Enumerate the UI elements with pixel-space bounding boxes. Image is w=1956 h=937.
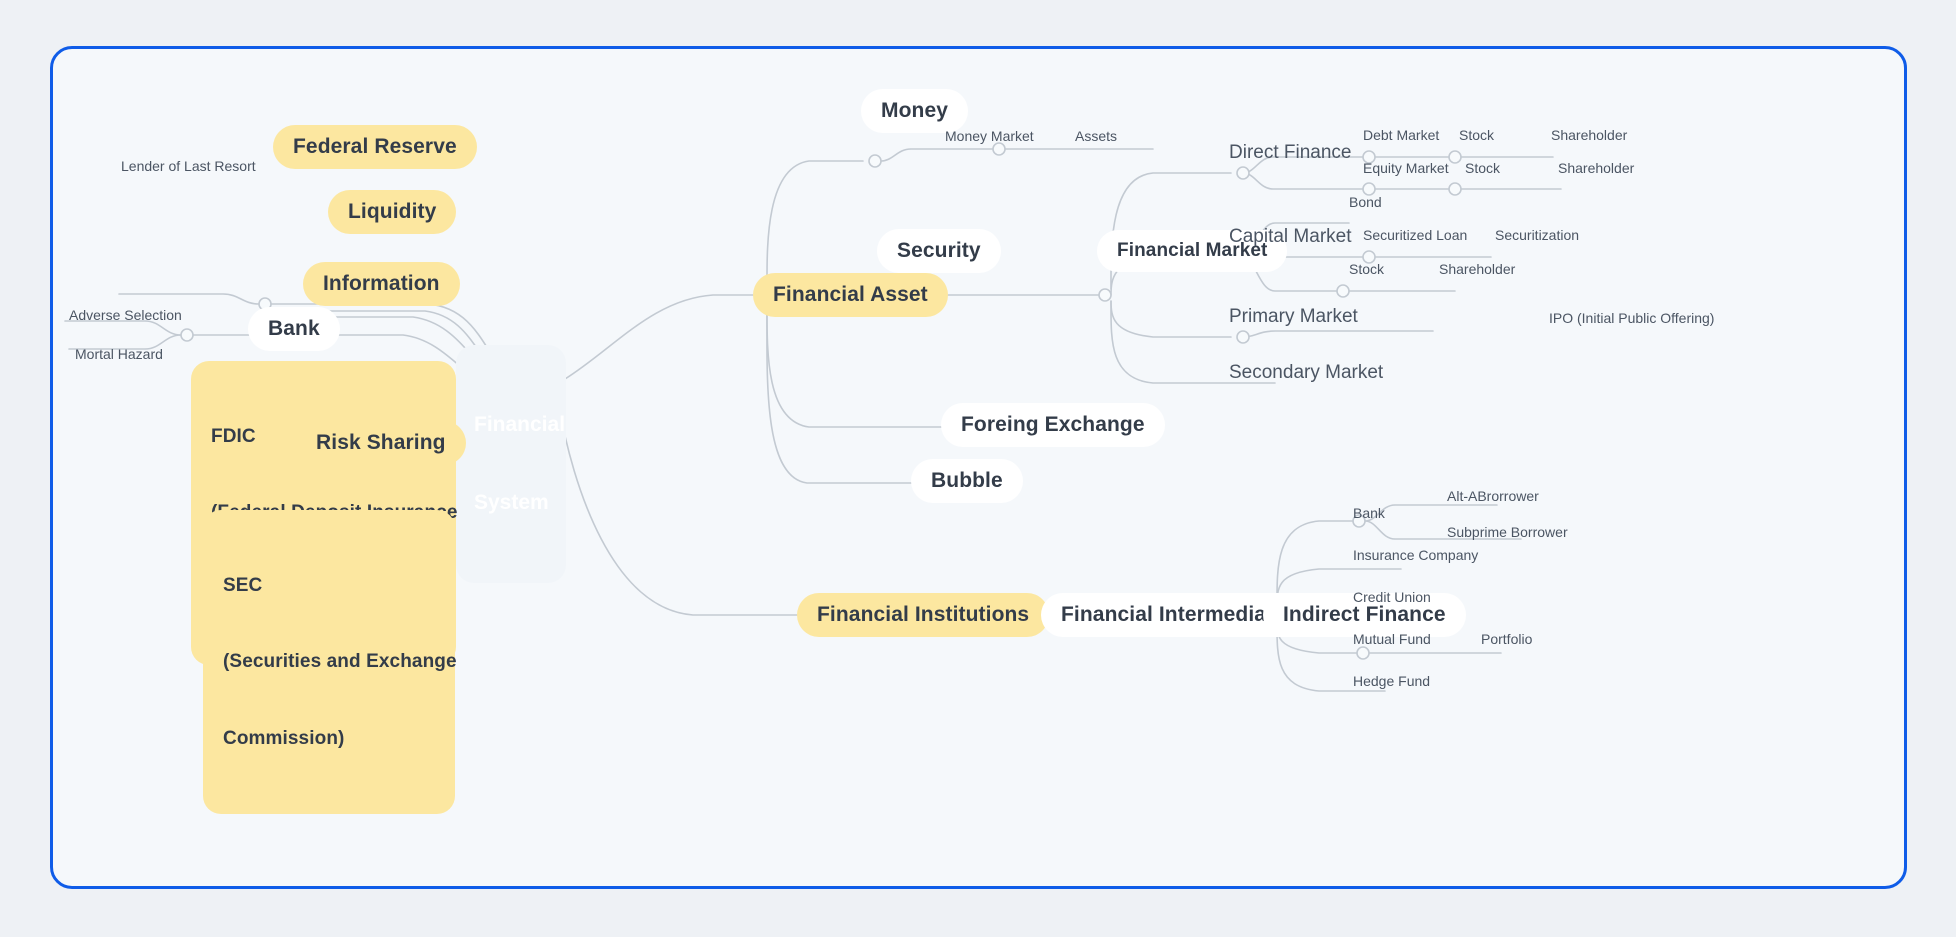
mindmap-page: Financial System Lender of Last Resort F… — [0, 0, 1956, 937]
node-adverse-selection[interactable]: Adverse Selection — [69, 304, 182, 326]
node-credit-union[interactable]: Credit Union — [1353, 587, 1431, 607]
node-information[interactable]: Information — [303, 262, 460, 306]
node-mortal-hazard[interactable]: Mortal Hazard — [75, 343, 163, 365]
node-insurance-company[interactable]: Insurance Company — [1353, 545, 1478, 565]
node-sec-line3: Commission) — [223, 726, 435, 751]
edge-fa-to-money — [767, 161, 863, 289]
node-direct-finance[interactable]: Direct Finance — [1229, 141, 1352, 165]
edge-fm-to-primary-market — [1111, 301, 1231, 337]
junction-dot-stock-2 — [1449, 183, 1461, 195]
junction-dot-direct-finance — [1237, 167, 1249, 179]
edge-pm-to-ipo — [1243, 331, 1433, 337]
node-primary-market[interactable]: Primary Market — [1229, 305, 1358, 329]
junction-dot-financial-market — [1099, 289, 1111, 301]
node-shareholder-1[interactable]: Shareholder — [1551, 125, 1627, 145]
node-stock-1[interactable]: Stock — [1459, 125, 1494, 145]
node-sec-line1: SEC — [223, 573, 435, 598]
junction-dot-stock-1 — [1449, 151, 1461, 163]
node-security[interactable]: Security — [877, 229, 1001, 273]
node-bubble[interactable]: Bubble — [911, 459, 1023, 503]
junction-dot-primary-market — [1237, 331, 1249, 343]
node-sec[interactable]: SEC (Securities and Exchange Commission) — [203, 510, 455, 814]
node-shareholder-3[interactable]: Shareholder — [1439, 259, 1515, 279]
node-lender-of-last-resort[interactable]: Lender of Last Resort — [121, 155, 256, 177]
node-risk-sharing[interactable]: Risk Sharing — [296, 421, 466, 465]
node-portfolio[interactable]: Portfolio — [1481, 629, 1532, 649]
node-alt-a-borrower[interactable]: Alt-ABrorrower — [1447, 486, 1539, 506]
node-ipo[interactable]: IPO (Initial Public Offering) — [1549, 308, 1714, 328]
node-capital-market[interactable]: Capital Market — [1229, 225, 1352, 249]
node-financial-institutions[interactable]: Financial Institutions — [797, 593, 1049, 637]
node-foreing-exchange[interactable]: Foreing Exchange — [941, 403, 1165, 447]
node-liquidity[interactable]: Liquidity — [328, 190, 456, 234]
junction-dot-stock-3 — [1337, 285, 1349, 297]
edge-fa-to-forex — [767, 301, 943, 427]
node-equity-market[interactable]: Equity Market — [1363, 158, 1449, 178]
node-debt-market[interactable]: Debt Market — [1363, 125, 1439, 145]
node-securitization[interactable]: Securitization — [1495, 225, 1579, 245]
edge-money-to-mm — [881, 149, 993, 161]
node-stock-2[interactable]: Stock — [1465, 158, 1500, 178]
node-sec-line2: (Securities and Exchange — [223, 649, 435, 674]
edge-df-to-equity-market — [1243, 173, 1363, 189]
edge-root-to-financial-institutions — [558, 401, 798, 615]
edge-root-to-financial-asset — [565, 295, 755, 379]
root-node[interactable]: Financial System — [456, 345, 566, 583]
node-hedge-fund[interactable]: Hedge Fund — [1353, 671, 1430, 691]
node-financial-asset[interactable]: Financial Asset — [753, 273, 948, 317]
node-subprime-borrower[interactable]: Subprime Borrower — [1447, 522, 1568, 542]
node-federal-reserve[interactable]: Federal Reserve — [273, 125, 477, 169]
node-bank[interactable]: Bank — [248, 307, 340, 351]
root-node-line1: Financial — [474, 412, 548, 438]
node-assets[interactable]: Assets — [1075, 126, 1117, 146]
edge-fa-to-bubble — [767, 301, 913, 483]
junction-dot-bank — [181, 329, 193, 341]
junction-dot-money — [869, 155, 881, 167]
node-mutual-fund[interactable]: Mutual Fund — [1353, 629, 1431, 649]
node-money-market[interactable]: Money Market — [945, 126, 1034, 146]
node-bank-2[interactable]: Bank — [1353, 503, 1385, 523]
mindmap-canvas[interactable]: Financial System Lender of Last Resort F… — [50, 46, 1907, 889]
node-shareholder-2[interactable]: Shareholder — [1558, 158, 1634, 178]
node-secondary-market[interactable]: Secondary Market — [1229, 361, 1383, 385]
node-bond[interactable]: Bond — [1349, 192, 1382, 212]
root-node-line2: System — [474, 490, 548, 516]
node-stock-3[interactable]: Stock — [1349, 259, 1384, 279]
edge-fed-to-lender — [119, 294, 259, 304]
node-securitized-loan[interactable]: Securitized Loan — [1363, 225, 1467, 245]
